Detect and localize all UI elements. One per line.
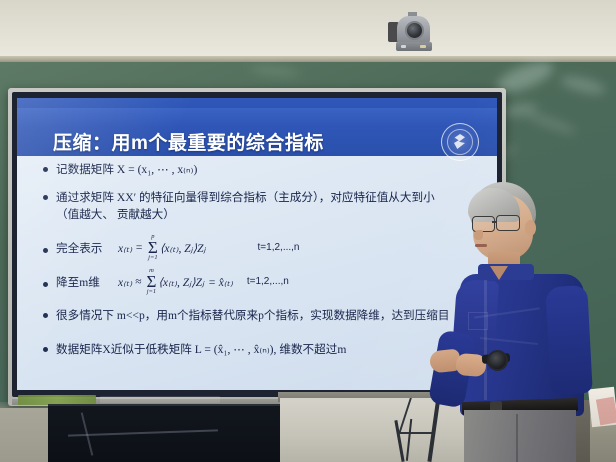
- formula-label: 降至m维: [56, 274, 118, 290]
- presentation-slide: 压缩：用m个最重要的综合指标 记数据矩阵 X = (x₁, ⋯ , x₍ₙ₎): [17, 98, 497, 390]
- formula-lhs: x₍ₜ₎: [118, 275, 132, 289]
- formula-lhs: x₍ₜ₎: [118, 241, 132, 255]
- sum-lower-limit: j=1: [147, 289, 156, 296]
- upper-wall: [0, 0, 616, 58]
- trouser-seam: [516, 414, 518, 462]
- camera-lens-icon: [405, 21, 424, 40]
- display-screen[interactable]: 压缩：用m个最重要的综合指标 记数据矩阵 X = (x₁, ⋯ , x₍ₙ₎): [17, 98, 497, 390]
- eyeglasses-icon: [496, 215, 520, 231]
- bullet-dot-icon: [43, 248, 48, 253]
- slide-top-band: [17, 98, 497, 108]
- classroom-photo: 压缩：用m个最重要的综合指标 记数据矩阵 X = (x₁, ⋯ , x₍ₙ₎): [0, 0, 616, 462]
- wristwatch-icon: [487, 350, 508, 371]
- bullet-dot-icon: [43, 282, 48, 287]
- presenter-ear: [525, 220, 536, 236]
- formula-summand: ⟨x₍ₜ₎, Zⱼ⟩Zⱼ: [160, 241, 206, 255]
- formula-full-representation: x₍ₜ₎ = p Σ j=1 ⟨x₍ₜ₎, Zⱼ⟩Zⱼ: [118, 234, 206, 261]
- bullet-subtext: （值越大、 贡献越大）: [56, 206, 175, 222]
- bullet-dot-icon: [43, 347, 48, 352]
- formula-relation: =: [135, 242, 143, 254]
- bullet-dot-icon: [43, 195, 48, 200]
- bullet-dot-icon: [43, 313, 48, 318]
- slide-bullet: 完全表示 x₍ₜ₎ = p Σ j=1 ⟨x₍ₜ₎, Zⱼ⟩Zⱼ: [43, 234, 300, 261]
- presenter-nose: [474, 230, 483, 240]
- summation-symbol: p Σ j=1: [148, 234, 158, 261]
- ptz-camera: [388, 12, 436, 56]
- bullet-dot-icon: [43, 167, 48, 172]
- bullet-text: 很多情况下 m<<p，用m个指标替代原来p个指标，实现数据降维，达到压缩目: [56, 308, 449, 323]
- wall-panel-left: [0, 408, 50, 462]
- bezel-text-strip: [100, 396, 220, 403]
- bullet-text: 数据矩阵X近似于低秩矩阵 L = (x̂₁, ⋯ , x̂₍ₙ₎), 维数不超过…: [56, 342, 346, 357]
- slide-bullet: 记数据矩阵 X = (x₁, ⋯ , x₍ₙ₎): [43, 162, 197, 177]
- slide-bullet: 通过求矩阵 XX′ 的特征向量得到综合指标（主成分），对应特征值从大到小: [43, 190, 435, 205]
- slide-bullet: 数据矩阵X近似于低秩矩阵 L = (x̂₁, ⋯ , x̂₍ₙ₎), 维数不超过…: [43, 342, 346, 357]
- bullet-text: 记数据矩阵 X = (x₁, ⋯ , x₍ₙ₎): [56, 162, 197, 177]
- formula-relation: ≈: [135, 276, 141, 288]
- index-range: t=1,2,...,n: [258, 242, 300, 253]
- presenter-mouth: [475, 244, 487, 247]
- slide-bullet: 降至m维 x₍ₜ₎ ≈ m Σ j=1 ⟨x₍ₜ₎, Zⱼ⟩Zⱼ: [43, 268, 289, 295]
- presenter-sleeve: [545, 285, 593, 395]
- bullet-text: 通过求矩阵 XX′ 的特征向量得到综合指标（主成分），对应特征值从大到小: [56, 190, 435, 205]
- display-inner-bezel: 压缩：用m个最重要的综合指标 记数据矩阵 X = (x₁, ⋯ , x₍ₙ₎): [12, 92, 502, 397]
- slide-bullet: 很多情况下 m<<p，用m个指标替代原来p个指标，实现数据降维，达到压缩目: [43, 308, 449, 323]
- shirt-placket: [484, 280, 487, 400]
- slide-title-bar: 压缩：用m个最重要的综合指标: [17, 108, 497, 156]
- formula-tail: = x̂₍ₜ₎: [208, 275, 233, 289]
- formula-label: 完全表示: [56, 240, 118, 256]
- formula-reduced-representation: x₍ₜ₎ ≈ m Σ j=1 ⟨x₍ₜ₎, Zⱼ⟩Zⱼ = x̂₍ₜ₎: [118, 268, 233, 295]
- camera-led-icon: [401, 45, 406, 48]
- eyeglasses-bridge: [492, 221, 497, 223]
- camera-led-icon: [420, 45, 426, 48]
- sum-lower-limit: j=1: [148, 255, 157, 262]
- index-range: t=1,2,...,n: [247, 276, 289, 287]
- presenter: [440, 182, 616, 462]
- summation-symbol: m Σ j=1: [146, 268, 156, 295]
- sigma-glyph-icon: Σ: [148, 241, 158, 255]
- formula-summand: ⟨x₍ₜ₎, Zⱼ⟩Zⱼ: [158, 275, 204, 289]
- sigma-glyph-icon: Σ: [146, 275, 156, 289]
- slide-body: 记数据矩阵 X = (x₁, ⋯ , x₍ₙ₎) 通过求矩阵 XX′ 的特征向量…: [17, 156, 497, 390]
- presenter-trousers: [464, 410, 576, 462]
- slide-title: 压缩：用m个最重要的综合指标: [53, 128, 324, 155]
